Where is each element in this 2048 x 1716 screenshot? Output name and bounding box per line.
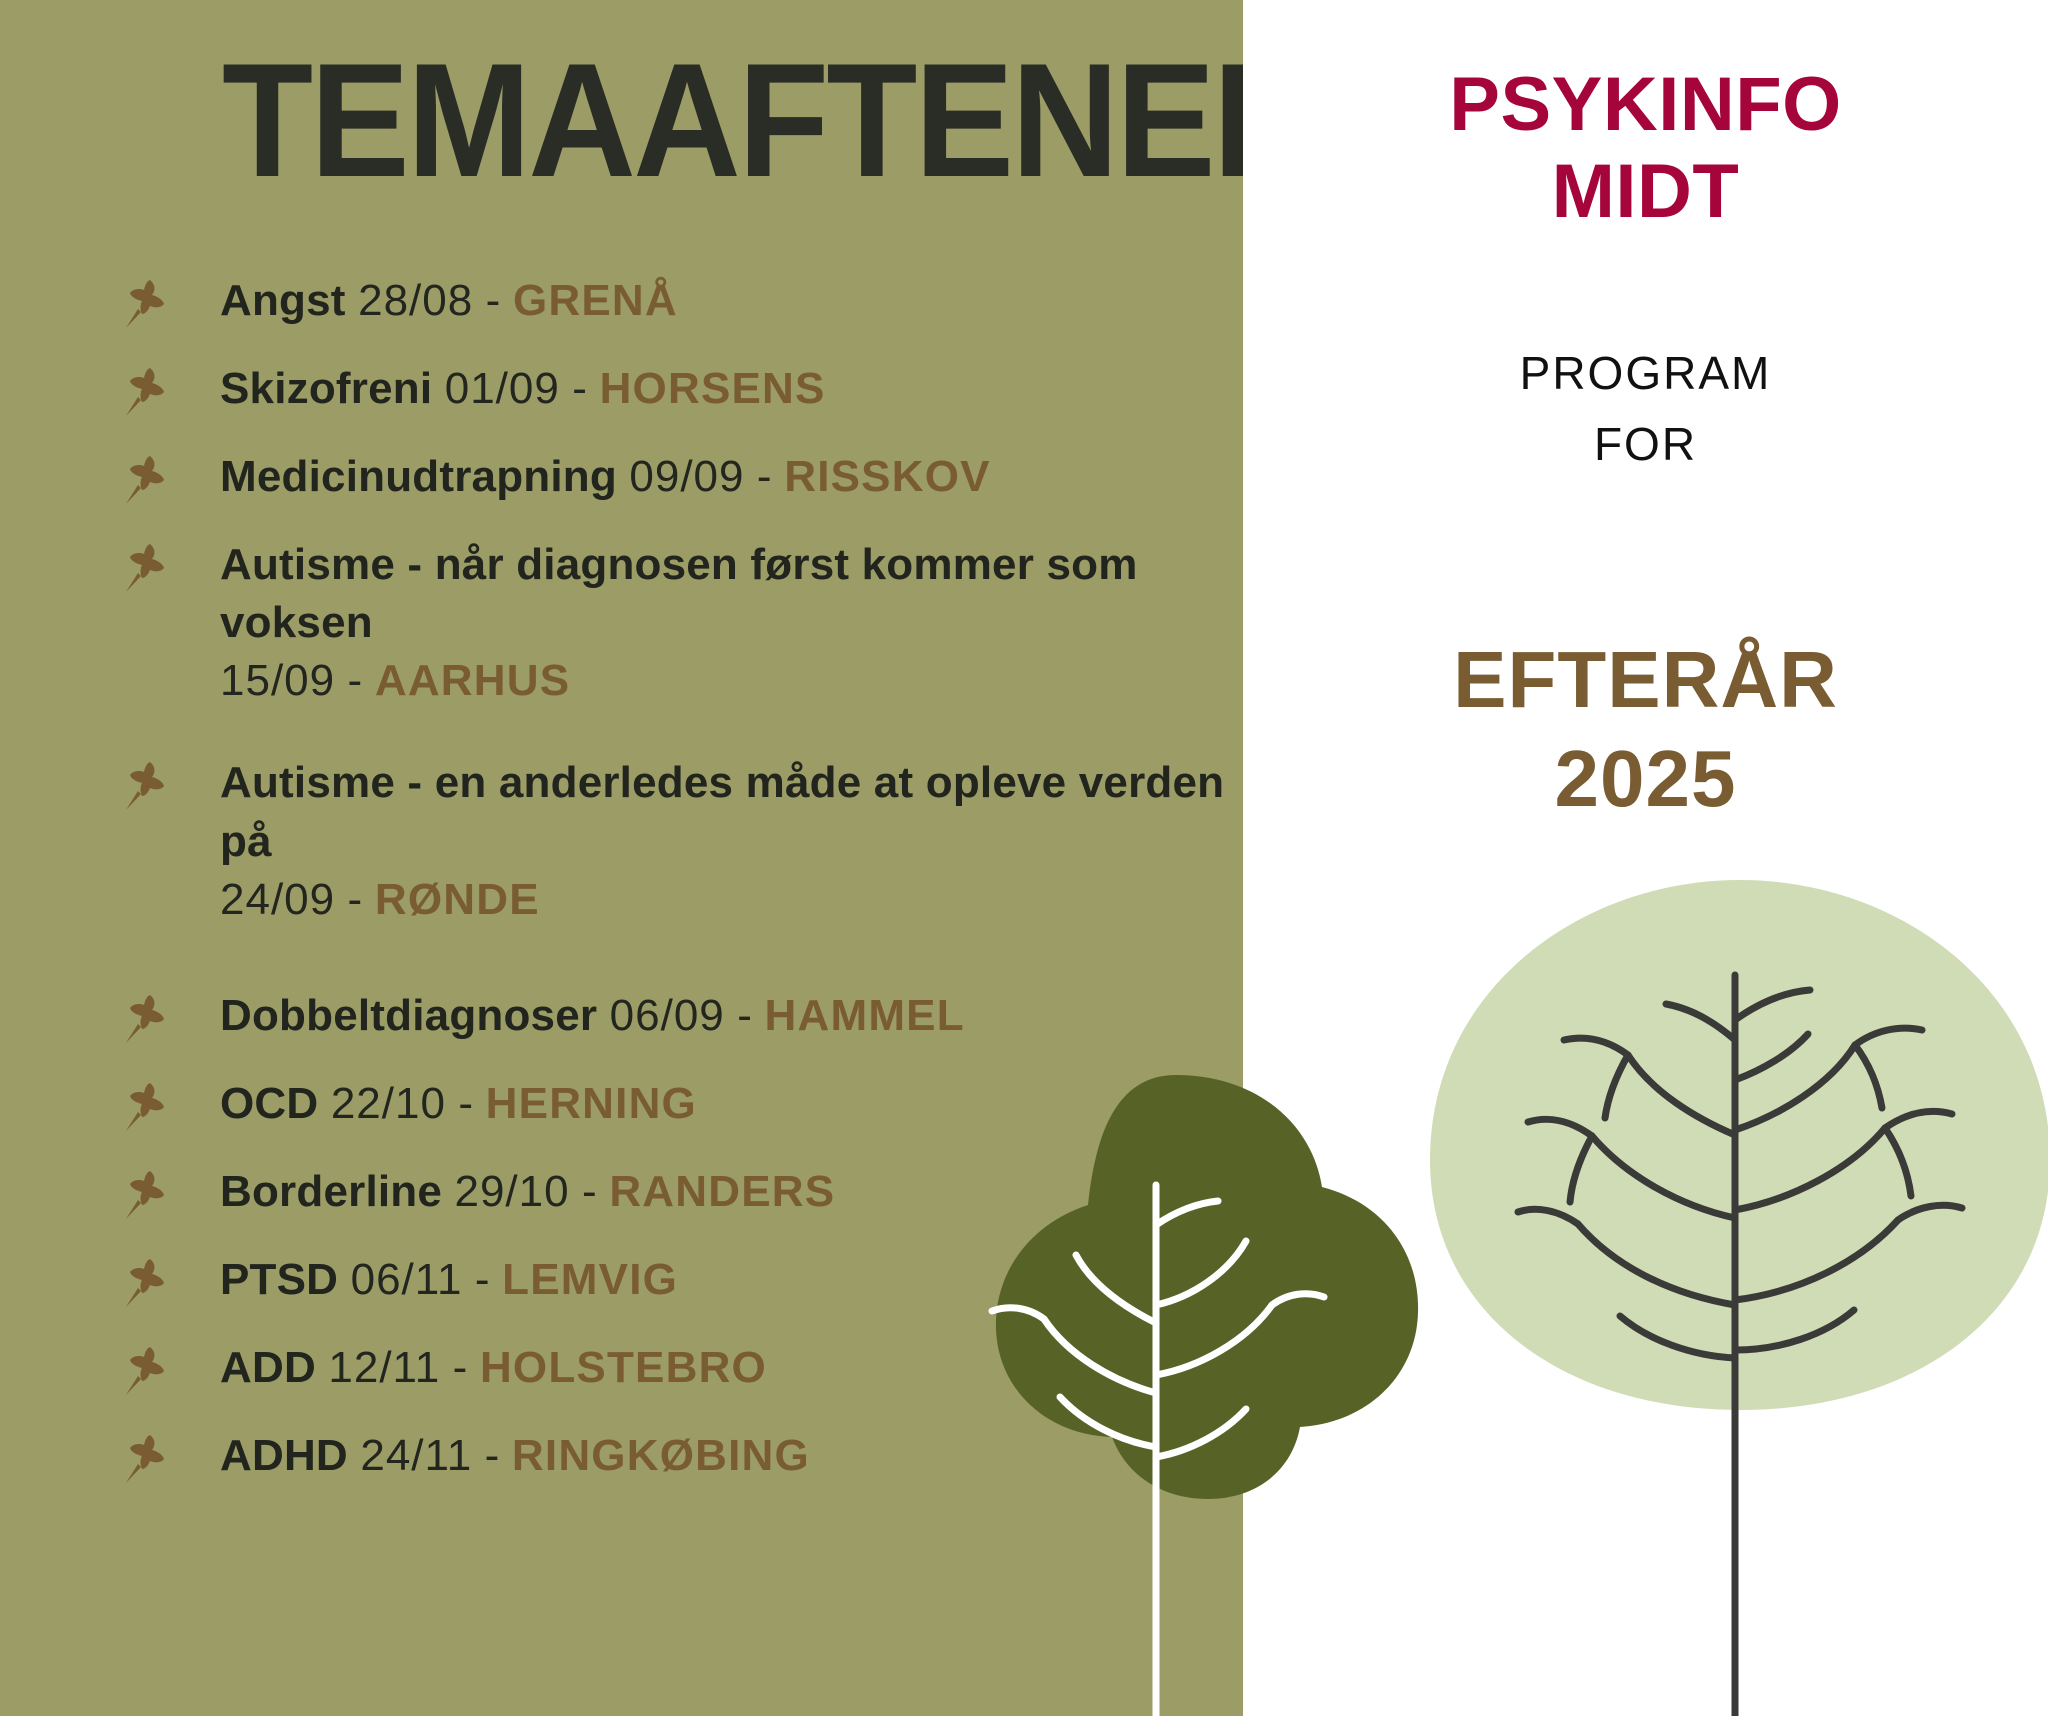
- event-text: PTSD 06/11 - LEMVIG: [220, 1251, 1230, 1309]
- event-city: AARHUS: [375, 656, 570, 705]
- event-date: 28/08: [358, 276, 473, 325]
- event-date: 15/09: [220, 656, 335, 705]
- list-item[interactable]: ADHD 24/11 - RINGKØBING: [120, 1427, 1230, 1485]
- event-date: 06/09: [610, 991, 725, 1040]
- event-city: LEMVIG: [502, 1255, 678, 1304]
- event-topic: Borderline: [220, 1167, 442, 1216]
- pushpin-icon: [120, 272, 220, 328]
- list-item[interactable]: OCD 22/10 - HERNING: [120, 1075, 1230, 1133]
- brand-line-2: MIDT: [1243, 149, 2048, 236]
- event-text: Dobbeltdiagnoser 06/09 - HAMMEL: [220, 987, 1230, 1045]
- season-line-1: EFTERÅR: [1243, 630, 2048, 729]
- list-item[interactable]: Autisme - når diagnosen først kommer som…: [120, 536, 1230, 710]
- season-label: EFTERÅR 2025: [1243, 630, 2048, 828]
- event-topic: Dobbeltdiagnoser: [220, 991, 597, 1040]
- event-city: HORSENS: [600, 364, 826, 413]
- event-separator: -: [348, 656, 363, 705]
- list-item[interactable]: ADD 12/11 - HOLSTEBRO: [120, 1339, 1230, 1397]
- event-separator: -: [737, 991, 752, 1040]
- event-text: Medicinudtrapning 09/09 - RISSKOV: [220, 448, 1230, 506]
- event-city: HERNING: [486, 1079, 697, 1128]
- event-text: ADD 12/11 - HOLSTEBRO: [220, 1339, 1230, 1397]
- left-olive-panel: TEMAAFTENER Angst 28/08 - GRENÅ: [0, 0, 1243, 1716]
- event-date: 24/11: [360, 1431, 472, 1480]
- event-city: RØNDE: [375, 875, 540, 924]
- event-separator: -: [485, 1431, 500, 1480]
- event-text: ADHD 24/11 - RINGKØBING: [220, 1427, 1230, 1485]
- event-topic: OCD: [220, 1079, 318, 1128]
- event-city: RISSKOV: [784, 452, 990, 501]
- event-topic: Skizofreni: [220, 364, 432, 413]
- event-date: 01/09: [445, 364, 560, 413]
- pushpin-icon: [120, 1251, 220, 1307]
- event-city: HOLSTEBRO: [480, 1343, 767, 1392]
- pushpin-icon: [120, 360, 220, 416]
- program-label: PROGRAM FOR: [1243, 338, 2048, 481]
- pushpin-icon: [120, 754, 220, 810]
- page-title: TEMAAFTENER: [222, 40, 1243, 202]
- event-separator: -: [757, 452, 772, 501]
- event-date: 29/10: [454, 1167, 569, 1216]
- event-separator: -: [486, 276, 501, 325]
- event-topic: PTSD: [220, 1255, 338, 1304]
- poster-canvas: TEMAAFTENER Angst 28/08 - GRENÅ: [0, 0, 2048, 1716]
- list-item[interactable]: Medicinudtrapning 09/09 - RISSKOV: [120, 448, 1230, 506]
- event-list: Angst 28/08 - GRENÅ Skizofreni 01/09: [120, 272, 1230, 1515]
- list-item[interactable]: Angst 28/08 - GRENÅ: [120, 272, 1230, 330]
- event-text: Borderline 29/10 - RANDERS: [220, 1163, 1230, 1221]
- event-topic: ADD: [220, 1343, 316, 1392]
- event-text: Autisme - når diagnosen først kommer som…: [220, 536, 1230, 710]
- event-date: 09/09: [629, 452, 744, 501]
- list-item[interactable]: Dobbeltdiagnoser 06/09 - HAMMEL: [120, 987, 1230, 1045]
- list-item[interactable]: Skizofreni 01/09 - HORSENS: [120, 360, 1230, 418]
- pushpin-icon: [120, 987, 220, 1043]
- event-topic: Angst: [220, 276, 346, 325]
- season-line-2: 2025: [1243, 729, 2048, 828]
- brand-line-1: PSYKINFO: [1243, 62, 2048, 149]
- event-city: GRENÅ: [513, 276, 678, 325]
- pushpin-icon: [120, 536, 220, 592]
- event-topic: ADHD: [220, 1431, 348, 1480]
- pushpin-icon: [120, 1427, 220, 1483]
- event-topic: Autisme - en anderledes måde at opleve v…: [220, 758, 1224, 865]
- pushpin-icon: [120, 1163, 220, 1219]
- list-item[interactable]: PTSD 06/11 - LEMVIG: [120, 1251, 1230, 1309]
- event-city: RINGKØBING: [512, 1431, 810, 1480]
- event-date: 24/09: [220, 875, 335, 924]
- event-separator: -: [582, 1167, 597, 1216]
- event-date: 06/11: [351, 1255, 463, 1304]
- event-text: OCD 22/10 - HERNING: [220, 1075, 1230, 1133]
- event-date: 22/10: [331, 1079, 446, 1128]
- pushpin-icon: [120, 1075, 220, 1131]
- event-topic: Autisme - når diagnosen først kommer som…: [220, 540, 1138, 647]
- program-line-1: PROGRAM: [1243, 338, 2048, 409]
- program-line-2: FOR: [1243, 409, 2048, 480]
- event-separator: -: [348, 875, 363, 924]
- event-topic: Medicinudtrapning: [220, 452, 617, 501]
- pushpin-icon: [120, 448, 220, 504]
- list-item[interactable]: Borderline 29/10 - RANDERS: [120, 1163, 1230, 1221]
- event-city: RANDERS: [609, 1167, 835, 1216]
- event-separator: -: [572, 364, 587, 413]
- event-text: Angst 28/08 - GRENÅ: [220, 272, 1230, 330]
- event-separator: -: [475, 1255, 490, 1304]
- pushpin-icon: [120, 1339, 220, 1395]
- event-date: 12/11: [328, 1343, 440, 1392]
- list-item[interactable]: Autisme - en anderledes måde at opleve v…: [120, 754, 1230, 928]
- event-text: Autisme - en anderledes måde at opleve v…: [220, 754, 1230, 928]
- event-text: Skizofreni 01/09 - HORSENS: [220, 360, 1230, 418]
- event-separator: -: [453, 1343, 468, 1392]
- brand-logo: PSYKINFO MIDT: [1243, 62, 2048, 235]
- right-white-panel: PSYKINFO MIDT PROGRAM FOR EFTERÅR 2025: [1243, 0, 2048, 1716]
- event-city: HAMMEL: [765, 991, 965, 1040]
- event-separator: -: [458, 1079, 473, 1128]
